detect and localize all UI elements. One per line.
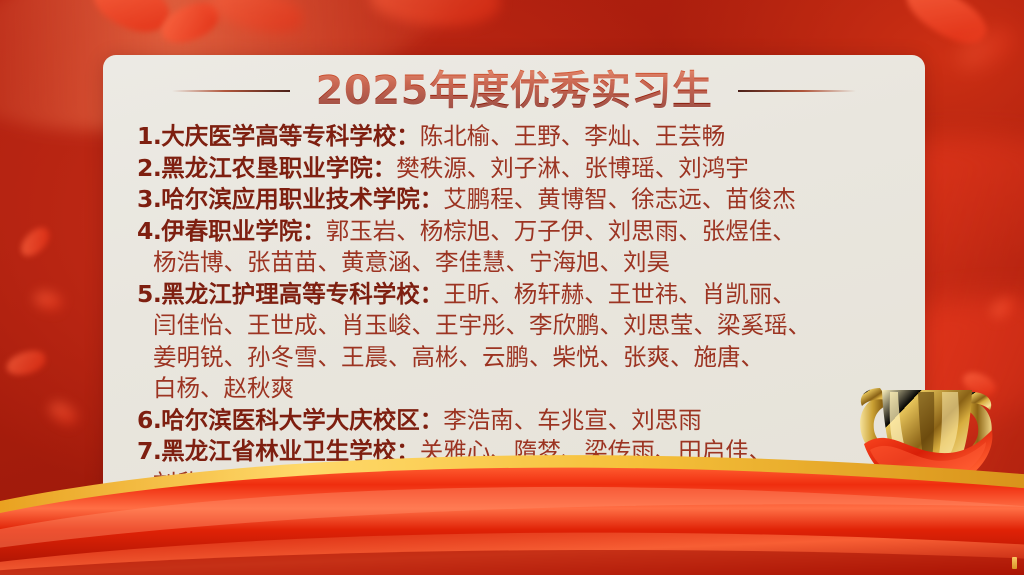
- entry-first-line: 6.哈尔滨医科大学大庆校区：李浩南、车兆宣、刘思雨: [137, 405, 907, 437]
- petal-decoration: [988, 295, 1019, 322]
- list-item-colon: ：: [420, 185, 444, 213]
- list-item-index: 1.: [137, 122, 161, 150]
- list-item-index: 5.: [137, 280, 161, 308]
- list-item-names-continued: 闫佳怡、王世成、肖玉峻、王宇彤、李欣鹏、刘思莹、梁奚瑶、: [137, 310, 907, 342]
- list-item-names: 李浩南、车兆宣、刘思雨: [443, 406, 702, 434]
- list-item-school: 伊春职业学院: [161, 217, 302, 245]
- list-item-index: 6.: [137, 406, 161, 434]
- slide-canvas: 2025年度优秀实习生 1.大庆医学高等专科学校：陈北榆、王野、李灿、王芸畅 2…: [0, 0, 1024, 575]
- list-item: 3.哈尔滨应用职业技术学院：艾鹏程、黄博智、徐志远、苗俊杰: [137, 184, 907, 216]
- list-item-school: 哈尔滨医科大学大庆校区: [161, 406, 420, 434]
- list-item-school: 黑龙江省林业卫生学校: [161, 437, 396, 465]
- list-item-names-continued: 杨浩博、张苗苗、黄意涵、李佳慧、宁海旭、刘昊: [137, 247, 907, 279]
- list-item-names: 郭玉岩、杨棕旭、万子伊、刘思雨、张煜佳、: [326, 217, 796, 245]
- list-item-colon: ：: [302, 217, 326, 245]
- petal-decoration: [46, 397, 81, 430]
- list-item: 4.伊春职业学院：郭玉岩、杨棕旭、万子伊、刘思雨、张煜佳、 杨浩博、张苗苗、黄意…: [137, 216, 907, 279]
- list-item-colon: ：: [396, 122, 420, 150]
- list-item: 1.大庆医学高等专科学校：陈北榆、王野、李灿、王芸畅: [137, 121, 907, 153]
- list-item-names: 陈北榆、王野、李灿、王芸畅: [420, 122, 726, 150]
- list-item-colon: ：: [420, 406, 444, 434]
- list-item-names: 王昕、杨轩赫、王世祎、肖凯丽、: [443, 280, 796, 308]
- content-panel: 2025年度优秀实习生 1.大庆医学高等专科学校：陈北榆、王野、李灿、王芸畅 2…: [103, 55, 925, 535]
- list-item-colon: ：: [396, 437, 420, 465]
- list-item: 6.哈尔滨医科大学大庆校区：李浩南、车兆宣、刘思雨: [137, 405, 907, 437]
- petal-decoration: [204, 0, 307, 42]
- petal-decoration: [959, 367, 998, 401]
- list-item-colon: ：: [420, 280, 444, 308]
- petal-decoration: [952, 23, 1021, 76]
- list-item: 5.黑龙江护理高等专科学校：王昕、杨轩赫、王世祎、肖凯丽、 闫佳怡、王世成、肖玉…: [137, 279, 907, 405]
- petal-decoration: [32, 287, 64, 313]
- page-title: 2025年度优秀实习生: [316, 69, 713, 114]
- list-item-names: 艾鹏程、黄博智、徐志远、苗俊杰: [443, 185, 796, 213]
- title-rule-right-icon: [738, 90, 856, 92]
- list-item-index: 4.: [137, 217, 161, 245]
- list-item-index: 7.: [137, 437, 161, 465]
- list-item-school: 黑龙江护理高等专科学校: [161, 280, 420, 308]
- petal-decoration: [16, 223, 55, 260]
- entry-first-line: 3.哈尔滨应用职业技术学院：艾鹏程、黄博智、徐志远、苗俊杰: [137, 184, 907, 216]
- list-item-index: 3.: [137, 185, 161, 213]
- list-item-names: 樊秩源、刘子淋、张博瑶、刘鸿宇: [396, 154, 749, 182]
- petal-decoration: [86, 0, 176, 44]
- awardee-list: 1.大庆医学高等专科学校：陈北榆、王野、李灿、王芸畅 2.黑龙江农垦职业学院：樊…: [137, 121, 907, 499]
- list-item: 7.黑龙江省林业卫生学校：关雅心、隋梦、梁传雨、田启佳、 刘欣琦、张佳音、姜瑾尚…: [137, 436, 907, 499]
- petal-decoration: [156, 0, 224, 48]
- corner-accent: [1012, 557, 1017, 569]
- list-item-school: 大庆医学高等专科学校: [161, 122, 396, 150]
- petal-decoration: [4, 348, 48, 378]
- entry-first-line: 5.黑龙江护理高等专科学校：王昕、杨轩赫、王世祎、肖凯丽、: [137, 279, 907, 311]
- entry-first-line: 7.黑龙江省林业卫生学校：关雅心、隋梦、梁传雨、田启佳、: [137, 436, 907, 468]
- list-item-names-continued: 白杨、赵秋爽: [137, 373, 907, 405]
- petal-decoration: [946, 495, 973, 516]
- title-row: 2025年度优秀实习生: [103, 69, 925, 114]
- title-rule-left-icon: [172, 90, 290, 92]
- entry-first-line: 2.黑龙江农垦职业学院：樊秩源、刘子淋、张博瑶、刘鸿宇: [137, 153, 907, 185]
- list-item-names-continued: 姜明锐、孙冬雪、王晨、高彬、云鹏、柴悦、张爽、施唐、: [137, 342, 907, 374]
- entry-first-line: 1.大庆医学高等专科学校：陈北榆、王野、李灿、王芸畅: [137, 121, 907, 153]
- list-item-names: 关雅心、隋梦、梁传雨、田启佳、: [420, 437, 773, 465]
- petal-decoration: [368, 0, 503, 33]
- list-item-colon: ：: [373, 154, 397, 182]
- entry-first-line: 4.伊春职业学院：郭玉岩、杨棕旭、万子伊、刘思雨、张煜佳、: [137, 216, 907, 248]
- list-item-names-continued: 刘欣琦、张佳音、姜瑾尚、刘可心、王军霞: [137, 468, 907, 500]
- list-item: 2.黑龙江农垦职业学院：樊秩源、刘子淋、张博瑶、刘鸿宇: [137, 153, 907, 185]
- petal-decoration: [898, 0, 993, 55]
- list-item-index: 2.: [137, 154, 161, 182]
- list-item-school: 哈尔滨应用职业技术学院: [161, 185, 420, 213]
- list-item-school: 黑龙江农垦职业学院: [161, 154, 373, 182]
